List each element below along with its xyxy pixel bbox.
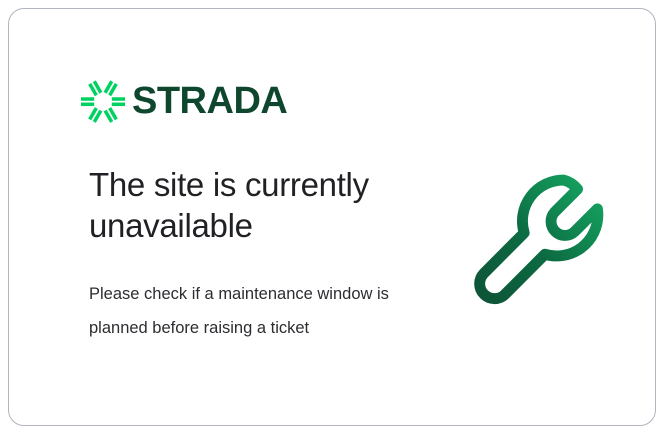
brand-wordmark: STRADA xyxy=(132,82,287,120)
brand-logo: STRADA xyxy=(81,75,287,127)
error-page: STRADA The site is currently unavailable… xyxy=(0,0,666,436)
status-card: STRADA The site is currently unavailable… xyxy=(8,8,656,426)
strada-asterisk-icon xyxy=(81,79,125,123)
wrench-icon xyxy=(464,164,618,318)
page-description: Please check if a maintenance window is … xyxy=(89,277,399,345)
page-title: The site is currently unavailable xyxy=(89,164,419,246)
